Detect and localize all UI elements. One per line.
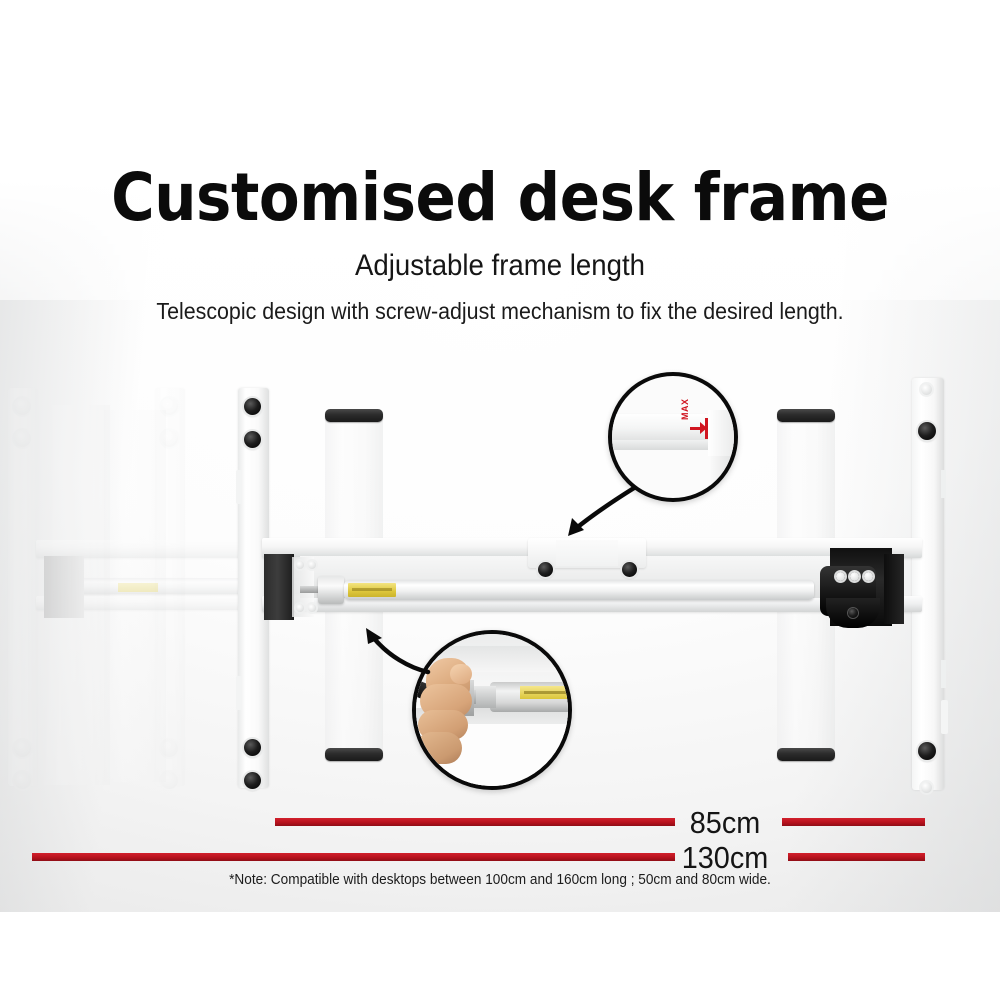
dimension-line-85-right [782,818,925,826]
compatibility-note: *Note: Compatible with desktops between … [30,872,970,888]
desk-pad-top-right [777,409,835,422]
dimension-line-130-right [788,853,925,861]
page-title: Customised desk frame [50,163,950,232]
dimension-line-85-left [275,818,675,826]
center-bolt-right [622,562,637,577]
callout-screw-adjust [412,630,572,790]
desk-pad-bottom-left [325,748,383,761]
center-bolt-left [538,562,553,577]
page-subtitle: Adjustable frame length [40,249,960,283]
page-description: Telescopic design with screw-adjust mech… [35,298,965,325]
dimension-label-130: 130cm [672,840,778,876]
product-marketing-image: Customised desk frame Adjustable frame l… [0,0,1000,1000]
callout-arrow-lower [348,618,434,680]
desk-pad-top-left [325,409,383,422]
dimension-label-85: 85cm [679,805,772,841]
callout-arrow-upper [548,484,638,546]
callout-max-marker: MAX [608,372,738,502]
max-label: MAX [680,399,690,421]
desk-pad-bottom-right [777,748,835,761]
dimension-line-130-left [32,853,675,861]
max-marker-graphic: MAX [680,418,710,440]
